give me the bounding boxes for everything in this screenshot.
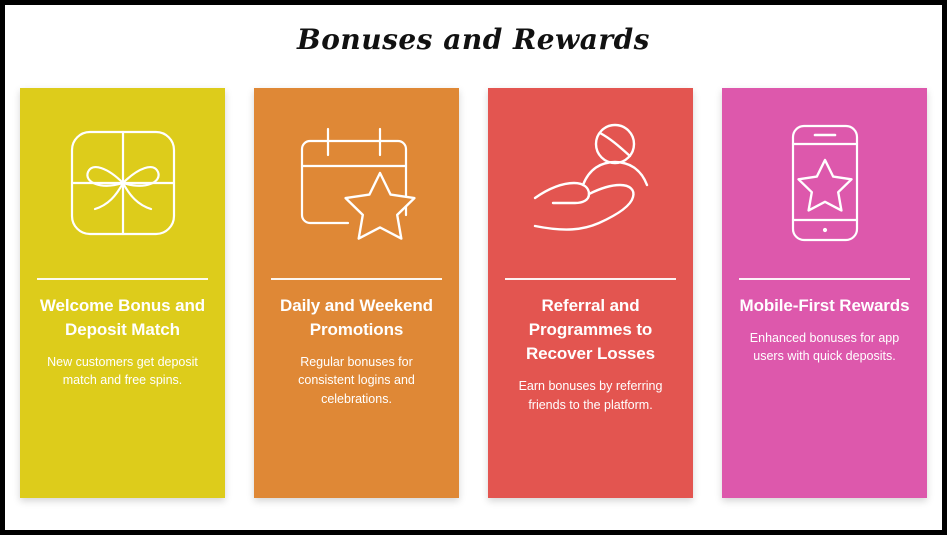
card-text: Welcome Bonus and Deposit Match New cust… [20,280,225,390]
card-text: Daily and Weekend Promotions Regular bon… [254,280,459,408]
card-text: Mobile-First Rewards Enhanced bonuses fo… [722,280,927,365]
card-body: Earn bonuses by referring friends to the… [498,377,683,413]
card-text: Referral and Programmes to Recover Losse… [488,280,693,414]
feature-card-daily-weekend-promotions[interactable]: Daily and Weekend Promotions Regular bon… [254,88,459,498]
card-title: Daily and Weekend Promotions [264,294,449,342]
card-title: Mobile-First Rewards [732,294,917,318]
gift-box-icon [20,88,225,278]
calendar-star-icon [254,88,459,278]
card-body: New customers get deposit match and free… [30,353,215,389]
feature-card-row: Welcome Bonus and Deposit Match New cust… [20,88,927,498]
card-title: Referral and Programmes to Recover Losse… [498,294,683,366]
card-body: Regular bonuses for consistent logins an… [264,353,449,407]
feature-card-welcome-bonus[interactable]: Welcome Bonus and Deposit Match New cust… [20,88,225,498]
hand-person-referral-icon [488,88,693,278]
card-body: Enhanced bonuses for app users with quic… [732,329,917,365]
feature-card-mobile-first-rewards[interactable]: Mobile-First Rewards Enhanced bonuses fo… [722,88,927,498]
slide-canvas: Bonuses and Rewards Welcome Bonus and De… [5,5,942,530]
feature-card-referral-recover-losses[interactable]: Referral and Programmes to Recover Losse… [488,88,693,498]
mobile-phone-star-icon [722,88,927,278]
page-title: Bonuses and Rewards [5,23,942,56]
card-title: Welcome Bonus and Deposit Match [30,294,215,342]
